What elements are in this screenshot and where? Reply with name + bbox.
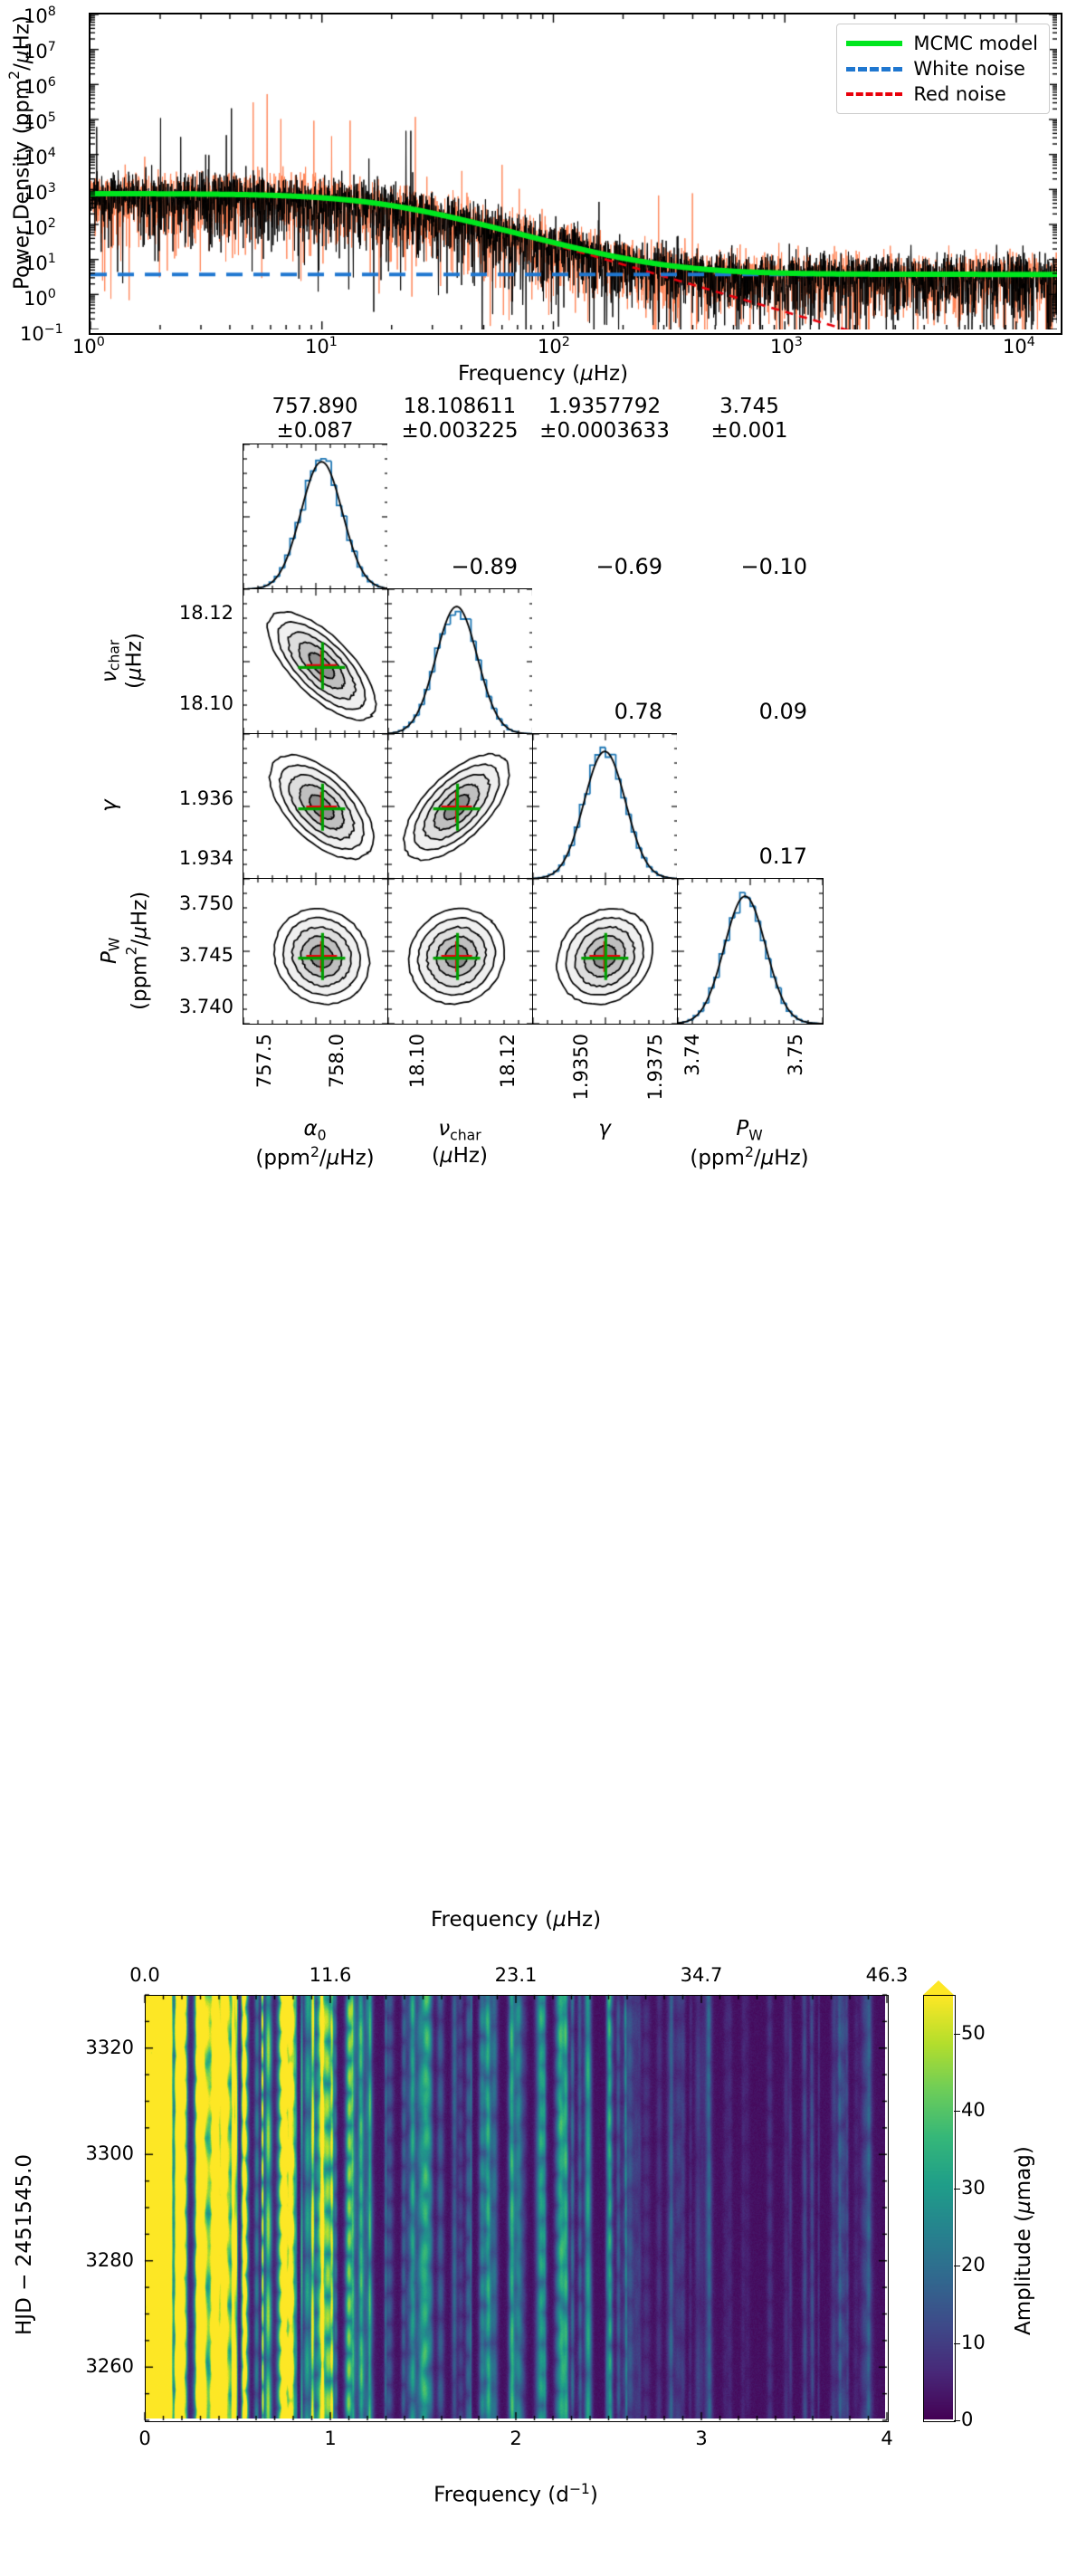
panel3-top-tick: 23.1 (492, 1964, 539, 1986)
colorbar-tick-mark (954, 2034, 960, 2035)
colorbar-tick-mark (954, 2189, 960, 2190)
panel1-plot-area: MCMC model White noise Red noise (89, 13, 1062, 335)
panel1-legend: MCMC model White noise Red noise (836, 24, 1050, 114)
corner-xtick: 18.12 (497, 1034, 519, 1088)
panel3-bottom-tick: 1 (318, 2428, 343, 2449)
corner-correlation-value: −0.10 (740, 554, 807, 579)
panel1-xlabel: Frequency (µHz) (0, 362, 1086, 386)
panel1-ytick: 108 (24, 5, 56, 27)
colorbar-tick: 20 (961, 2254, 986, 2275)
corner-correlation-box: 0.78 (532, 588, 677, 733)
panel1-ytick: 100 (24, 287, 56, 310)
panel1-ytick: 101 (24, 252, 56, 274)
panel3-ytick: 3320 (54, 2037, 134, 2058)
legend-entry-white-noise: White noise (846, 56, 1038, 81)
corner-xtick: 1.9350 (570, 1034, 592, 1100)
corner-title-value-0: 757.890 (233, 395, 396, 419)
colorbar-label: Amplitude (µmag) (1012, 2073, 1035, 2335)
colorbar-tick: 30 (961, 2177, 986, 2199)
colorbar-tick-mark (954, 2111, 960, 2112)
corner-contour-3-0 (243, 878, 389, 1025)
colorbar (923, 1995, 956, 2422)
legend-entry-red-noise: Red noise (846, 81, 1038, 107)
panel3-top-xlabel: Frequency (µHz) (145, 1908, 887, 1932)
colorbar-tick: 40 (961, 2099, 986, 2121)
corner-title-value-1: 18.108611 (378, 395, 541, 419)
corner-xlabel-3: PW(ppm2/µHz) (659, 1117, 840, 1172)
panel1-ytick: 10−1 (20, 322, 63, 345)
panel1-ytick: 104 (24, 146, 56, 168)
corner-correlation-value: −0.89 (451, 554, 518, 579)
corner-correlation-box: 0.09 (677, 588, 822, 733)
legend-swatch-white-noise (846, 67, 902, 72)
corner-correlation-box: −0.10 (677, 444, 822, 588)
corner-xtick: 3.74 (681, 1034, 703, 1076)
corner-correlation-box: −0.89 (387, 444, 532, 588)
corner-correlation-value: 0.78 (614, 699, 662, 724)
power-density-spectrum-panel: Power Density (ppm2/µHz) 10−1 100 101 10… (0, 0, 1086, 380)
panel1-ytick: 106 (24, 75, 56, 98)
corner-correlation-value: 0.09 (759, 699, 807, 724)
panel1-ytick: 105 (24, 110, 56, 133)
panel3-ylabel: HJD − 2451545.0 (13, 2082, 36, 2335)
panel1-xtick: 102 (538, 335, 570, 358)
corner-title-error-2: ±0.0003633 (523, 419, 686, 444)
panel1-ytick: 107 (24, 40, 56, 62)
panel3-bottom-tick: 2 (503, 2428, 529, 2449)
colorbar-tick-mark (954, 2420, 960, 2421)
time-frequency-heatmap-panel: Frequency (µHz) HJD − 2451545.0 Frequenc… (0, 1901, 1086, 2576)
colorbar-tick-mark (954, 2266, 960, 2266)
colorbar-tick: 50 (961, 2022, 986, 2044)
panel3-ytick: 3280 (54, 2249, 134, 2271)
corner-correlation-box: −0.69 (532, 444, 677, 588)
corner-correlation-box: 0.17 (677, 733, 822, 878)
corner-xtick: 1.9375 (644, 1034, 666, 1100)
corner-contour-2-1 (387, 733, 534, 880)
legend-label-red-noise: Red noise (913, 83, 1005, 105)
corner-contour-2-0 (243, 733, 389, 880)
panel3-top-tick: 46.3 (863, 1964, 910, 1986)
panel3-bottom-tick: 4 (874, 2428, 900, 2449)
panel3-ytick: 3260 (54, 2355, 134, 2377)
colorbar-canvas (924, 1996, 953, 2419)
corner-hist-2 (532, 733, 679, 880)
corner-title-0: 757.890±0.087 (233, 395, 396, 444)
panel3-plot-area (145, 1995, 889, 2422)
corner-title-1: 18.108611±0.003225 (378, 395, 541, 444)
corner-correlation-value: −0.69 (595, 554, 662, 579)
panel3-bottom-xlabel: Frequency (d−1) (145, 2480, 887, 2507)
corner-hist-1 (387, 588, 534, 735)
mcmc-corner-plot-panel: 757.890±0.08718.108611±0.0032251.9357792… (0, 389, 1086, 1729)
colorbar-top-arrow (923, 1980, 954, 1995)
corner-title-value-2: 1.9357792 (523, 395, 686, 419)
corner-xtick: 18.10 (406, 1034, 428, 1088)
corner-title-error-1: ±0.003225 (378, 419, 541, 444)
panel3-top-tick: 11.6 (307, 1964, 354, 1986)
panel1-xtick: 100 (72, 335, 105, 358)
corner-ylabel-1: νchar(µHz) (98, 597, 147, 724)
colorbar-tick: 0 (961, 2409, 973, 2430)
corner-title-3: 3.745±0.001 (668, 395, 831, 444)
corner-title-error-0: ±0.087 (233, 419, 396, 444)
corner-xtick: 757.5 (253, 1034, 275, 1088)
colorbar-tick: 10 (961, 2332, 986, 2353)
panel3-bottom-tick: 0 (132, 2428, 157, 2449)
panel3-heatmap-canvas (146, 1996, 885, 2419)
legend-entry-mcmc-model: MCMC model (846, 31, 1038, 56)
panel3-top-tick: 34.7 (678, 1964, 725, 1986)
legend-swatch-mcmc-model (846, 41, 902, 46)
panel1-xtick: 101 (305, 335, 338, 358)
panel3-bottom-tick: 3 (689, 2428, 714, 2449)
corner-contour-3-1 (387, 878, 534, 1025)
corner-xtick: 3.75 (785, 1034, 806, 1076)
corner-contour-1-0 (243, 588, 389, 735)
corner-ylabel-3: PW(ppm2/µHz) (98, 887, 151, 1014)
panel1-xtick: 104 (1003, 335, 1035, 358)
legend-swatch-red-noise (846, 92, 902, 96)
corner-hist-3 (677, 878, 824, 1025)
panel1-ytick: 103 (24, 181, 56, 204)
legend-label-mcmc-model: MCMC model (913, 33, 1038, 54)
legend-label-white-noise: White noise (913, 58, 1025, 80)
corner-ylabel-2: γ (98, 742, 121, 869)
corner-hist-0 (243, 444, 389, 590)
panel1-ytick: 102 (24, 216, 56, 239)
corner-contour-3-2 (532, 878, 679, 1025)
corner-title-error-3: ±0.001 (668, 419, 831, 444)
panel1-xtick: 103 (770, 335, 803, 358)
corner-correlation-value: 0.17 (759, 844, 807, 869)
colorbar-tick-mark (954, 2343, 960, 2344)
corner-xtick: 758.0 (326, 1034, 348, 1088)
panel3-ytick: 3300 (54, 2142, 134, 2164)
panel3-top-tick: 0.0 (121, 1964, 168, 1986)
corner-title-value-3: 3.745 (668, 395, 831, 419)
corner-title-2: 1.9357792±0.0003633 (523, 395, 686, 444)
